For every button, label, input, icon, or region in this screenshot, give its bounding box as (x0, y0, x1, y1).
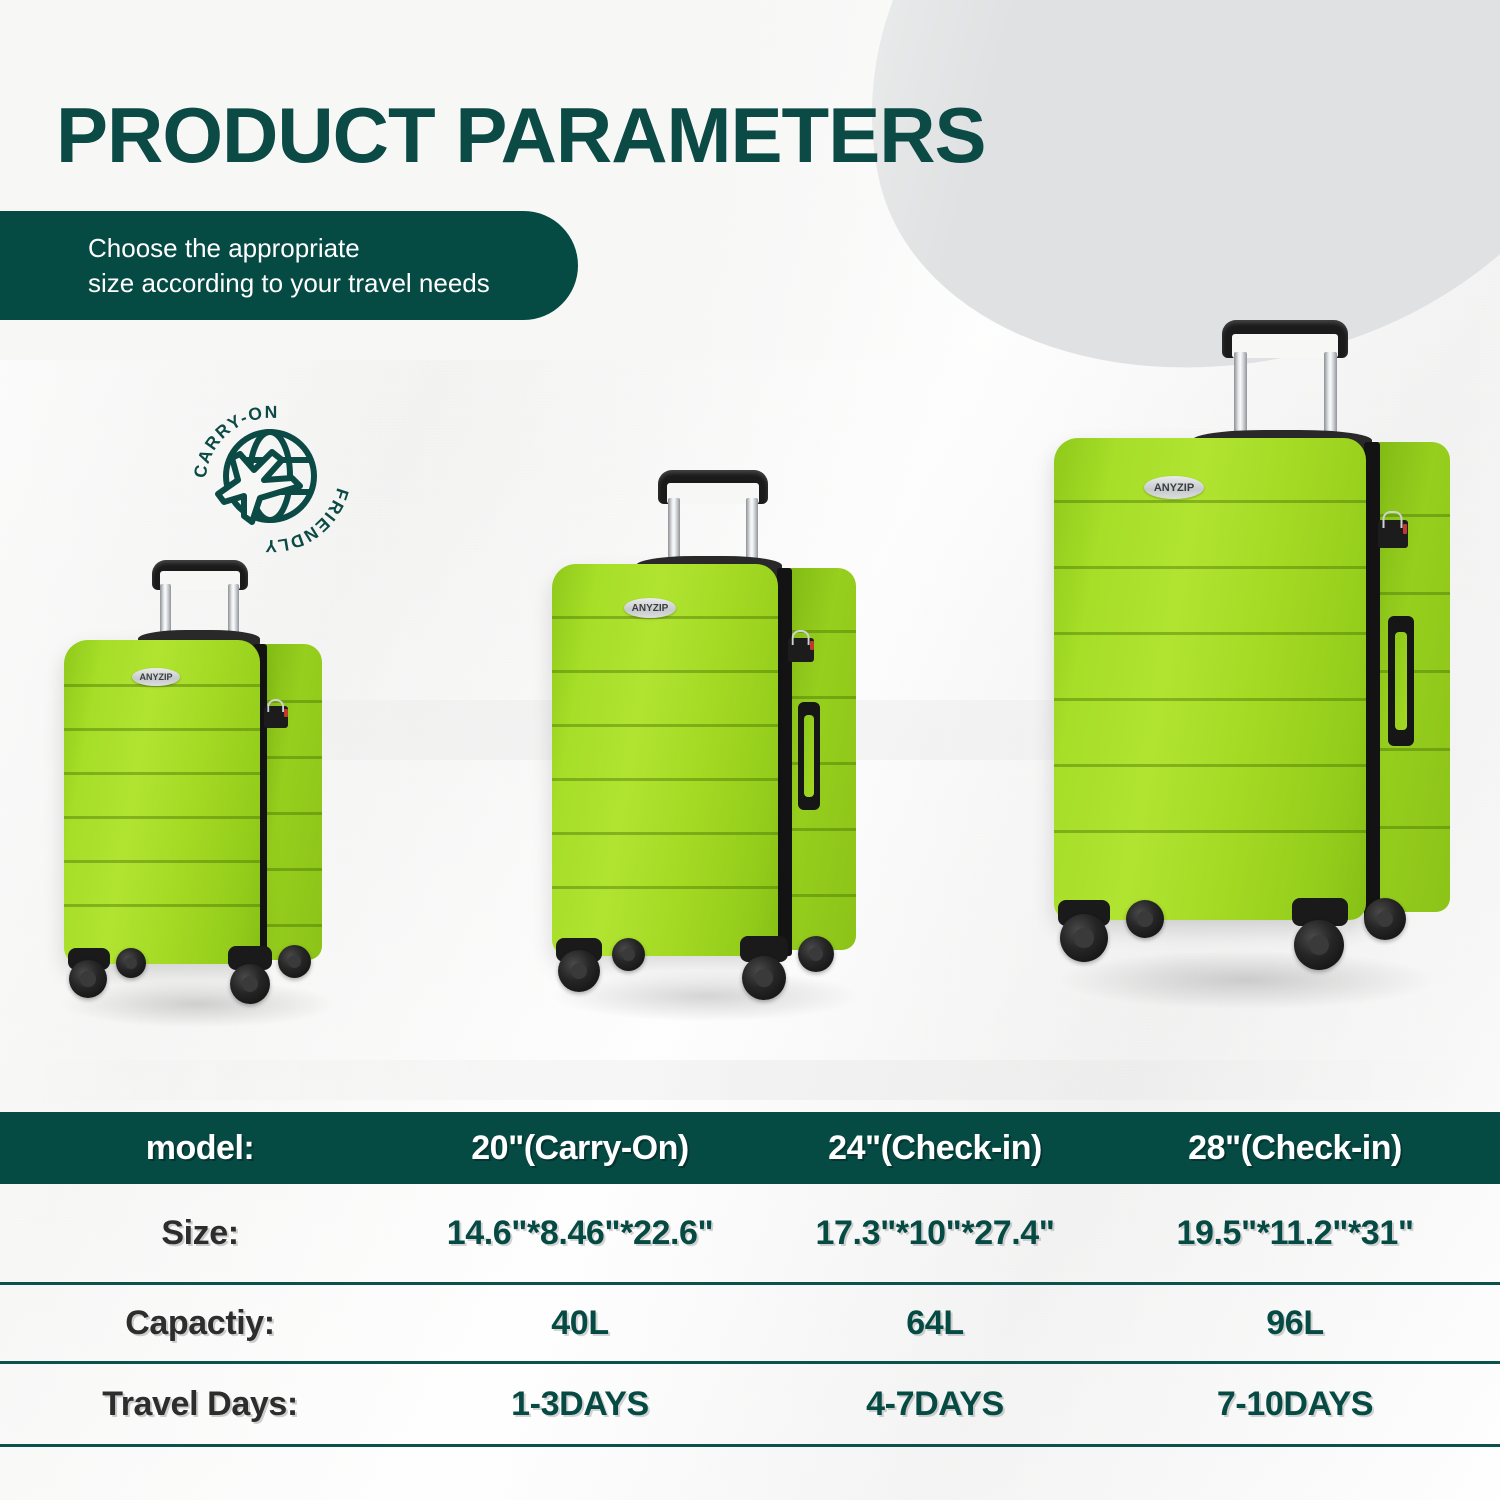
row-travel-days-24: 4-7DAYS (760, 1385, 1110, 1424)
brand-logo-badge: ANYZIP (624, 598, 676, 618)
row-travel-days-20: 1-3DAYS (400, 1385, 760, 1424)
row-capacity-24: 64L (760, 1304, 1110, 1343)
table-header-row: model: 20"(Carry-On) 24"(Check-in) 28"(C… (0, 1112, 1500, 1184)
suitcase-20-inch: ANYZIP (48, 560, 348, 1035)
table-header-model: model: (0, 1129, 400, 1168)
spinner-wheel-2 (116, 948, 146, 978)
table-header-col-24: 24"(Check-in) (760, 1129, 1110, 1168)
table-row: Travel Days: 1-3DAYS 4-7DAYS 7-10DAYS (0, 1364, 1500, 1444)
suitcase-shell (1054, 438, 1366, 920)
brand-logo-badge: ANYZIP (132, 668, 180, 686)
row-travel-days-28: 7-10DAYS (1110, 1385, 1480, 1424)
paper-crease-2 (0, 1060, 1500, 1100)
spinner-wheel-4 (1364, 898, 1406, 940)
row-capacity-20: 40L (400, 1304, 760, 1343)
suitcase-shell (552, 564, 778, 956)
side-carry-handle (1388, 616, 1414, 746)
suitcase-side-panel (784, 568, 856, 950)
handle-rod-right (1324, 352, 1337, 438)
suitcase-shell (64, 640, 260, 964)
spinner-wheel-3 (230, 964, 270, 1004)
handle-rod-left (1234, 352, 1247, 438)
suitcase-zipper (777, 568, 792, 956)
row-size-28: 19.5"*11.2"*31" (1110, 1214, 1480, 1253)
suitcase-side-panel (260, 644, 322, 960)
spinner-wheel-1 (69, 960, 107, 998)
table-header-col-28: 28"(Check-in) (1110, 1129, 1480, 1168)
tsa-lock (264, 706, 288, 728)
table-header-col-20: 20"(Carry-On) (400, 1129, 760, 1168)
spinner-wheel-1 (558, 950, 600, 992)
subtitle-line-2: size according to your travel needs (88, 266, 490, 300)
row-label-capacity: Capactiy: (0, 1304, 400, 1343)
side-carry-handle (798, 702, 820, 810)
row-label-travel-days: Travel Days: (0, 1385, 400, 1424)
subtitle-line-1: Choose the appropriate (88, 233, 360, 263)
table-separator-3 (0, 1444, 1500, 1447)
tsa-lock (788, 638, 814, 662)
spinner-wheel-3 (1294, 920, 1344, 970)
brand-logo-badge: ANYZIP (1144, 476, 1204, 499)
handle-rod-right (746, 498, 758, 564)
suitcase-zipper (1364, 442, 1380, 920)
tsa-lock (1378, 520, 1408, 548)
subtitle-banner: Choose the appropriate size according to… (0, 211, 578, 320)
suitcase-24-inch: ANYZIP (536, 470, 876, 1030)
spinner-wheel-3 (742, 956, 786, 1000)
row-label-size: Size: (0, 1214, 400, 1253)
table-row: Size: 14.6"*8.46"*22.6" 17.3"*10"*27.4" … (0, 1184, 1500, 1282)
brand-name: ANYZIP (1154, 482, 1194, 494)
product-parameters-infographic: PRODUCT PARAMETERS Choose the appropriat… (0, 0, 1500, 1500)
subtitle-text: Choose the appropriate size according to… (0, 231, 490, 300)
row-capacity-28: 96L (1110, 1304, 1480, 1343)
suitcase-shadow (1056, 950, 1438, 1010)
spinner-wheel-4 (798, 936, 834, 972)
specs-table: model: 20"(Carry-On) 24"(Check-in) 28"(C… (0, 1112, 1500, 1447)
suitcase-28-inch: ANYZIP (1040, 320, 1450, 1030)
carry-on-friendly-badge: CARRY-ON FRIENDLY (186, 392, 356, 562)
spinner-wheel-4 (278, 945, 311, 978)
page-title: PRODUCT PARAMETERS (56, 96, 986, 174)
spinner-wheel-2 (1126, 900, 1164, 938)
row-size-20: 14.6"*8.46"*22.6" (400, 1214, 760, 1253)
row-size-24: 17.3"*10"*27.4" (760, 1214, 1110, 1253)
spinner-wheel-2 (612, 938, 645, 971)
spinner-wheel-1 (1060, 914, 1108, 962)
handle-rod-left (668, 498, 680, 564)
brand-name: ANYZIP (632, 603, 669, 614)
table-row: Capactiy: 40L 64L 96L (0, 1285, 1500, 1361)
brand-name: ANYZIP (139, 672, 172, 682)
